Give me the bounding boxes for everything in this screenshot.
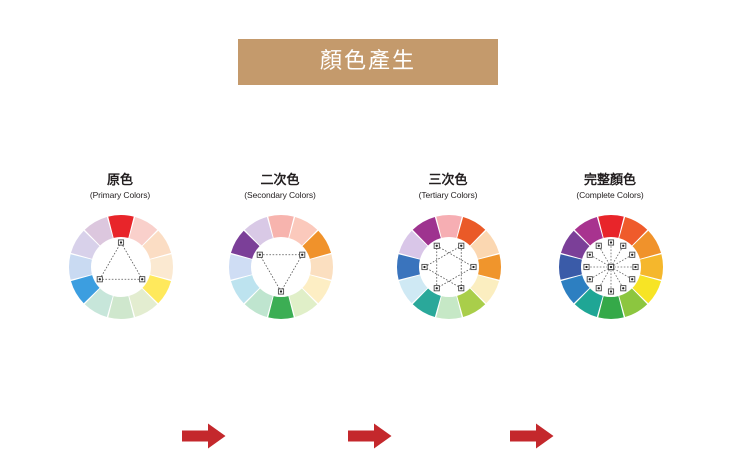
stage-tertiary-colors: 三次色 (Tertiary Colors) bbox=[368, 160, 528, 360]
stage-label-en: (Primary Colors) bbox=[40, 191, 200, 201]
right-arrow-icon-1 bbox=[182, 423, 226, 449]
color-wheel-primary bbox=[67, 212, 175, 322]
stage-label-cn: 完整顏色 bbox=[530, 174, 690, 189]
stage-label-primary: 原色 (Primary Colors) bbox=[40, 174, 200, 201]
title-banner: 顏色產生 bbox=[238, 39, 498, 85]
stage-primary-colors: 原色 (Primary Colors) bbox=[40, 160, 200, 360]
stage-label-tertiary: 三次色 (Tertiary Colors) bbox=[368, 174, 528, 201]
stage-label-cn: 原色 bbox=[40, 174, 200, 189]
stage-label-en: (Secondary Colors) bbox=[200, 191, 360, 201]
stage-complete-colors: 完整顏色 (Complete Colors) bbox=[530, 160, 690, 360]
stage-label-en: (Tertiary Colors) bbox=[368, 191, 528, 201]
stage-secondary-colors: 二次色 (Secondary Colors) bbox=[200, 160, 360, 360]
color-wheel-tertiary bbox=[395, 212, 503, 322]
stage-label-secondary: 二次色 (Secondary Colors) bbox=[200, 174, 360, 201]
right-arrow-icon-3 bbox=[510, 423, 554, 449]
color-wheel-secondary bbox=[227, 212, 335, 322]
color-wheel-complete bbox=[557, 212, 665, 322]
stage-label-en: (Complete Colors) bbox=[530, 191, 690, 201]
stage-label-complete: 完整顏色 (Complete Colors) bbox=[530, 174, 690, 201]
stage-label-cn: 三次色 bbox=[368, 174, 528, 189]
color-wheel-stage-row: 原色 (Primary Colors) 二次色 (Secondary Color… bbox=[0, 160, 749, 360]
stage-label-cn: 二次色 bbox=[200, 174, 360, 189]
page-title: 顏色產生 bbox=[320, 51, 416, 73]
right-arrow-icon-2 bbox=[348, 423, 392, 449]
